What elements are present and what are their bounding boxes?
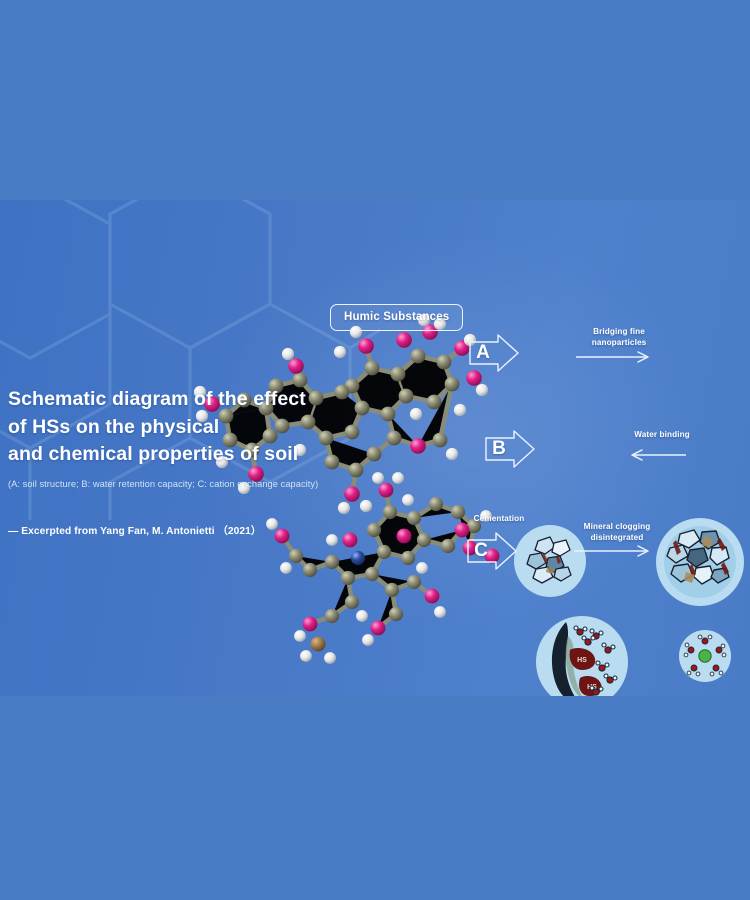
bottom-padding-band: [0, 696, 750, 900]
flow-label-water-binding: Water binding: [626, 430, 698, 441]
headline-line-2: of HSs on the physical: [8, 414, 338, 442]
flow-label-mineral-clogging: Mineral clogging disintegrated: [574, 522, 660, 543]
flow-label-bridging-line-1: Bridging fine: [578, 327, 660, 338]
bridged-aggregate-circle: [656, 518, 744, 606]
step-c-letter: C: [466, 530, 496, 572]
step-a-arrow[interactable]: A: [468, 332, 520, 374]
attribution-source: — Excerpted from Yang Fan, M. Antonietti…: [8, 522, 338, 537]
content-slide: Schematic diagram of the effect of HSs o…: [0, 200, 750, 696]
slide-stage: Schematic diagram of the effect of HSs o…: [0, 0, 750, 900]
connector-arrow-right-c: [574, 544, 656, 558]
flow-label-cementation: Cementation: [466, 514, 532, 525]
top-padding-band: [0, 0, 750, 200]
subtitle-caption: (A: soil structure; B: water retention c…: [8, 478, 338, 490]
flow-label-mineral-clogging-line-2: disintegrated: [574, 533, 660, 544]
flow-label-bridging: Bridging fine nanoparticles: [578, 327, 660, 348]
svg-text:HS: HS: [577, 657, 587, 664]
text-block: Schematic diagram of the effect of HSs o…: [8, 386, 338, 537]
step-b-arrow[interactable]: B: [484, 428, 536, 470]
flow-label-mineral-clogging-line-1: Mineral clogging: [574, 522, 660, 533]
flow-label-bridging-line-2: nanoparticles: [578, 338, 660, 349]
step-b-letter: B: [484, 428, 514, 470]
headline-line-3: and chemical properties of soil: [8, 441, 338, 469]
headline-line-1: Schematic diagram of the effect: [8, 386, 338, 414]
connector-arrow-left-b: [628, 448, 686, 462]
connector-arrow-right-a: [576, 350, 656, 364]
step-c-arrow[interactable]: C: [466, 530, 518, 572]
step-a-letter: A: [468, 332, 498, 374]
hydrated-cation-circle: [679, 630, 731, 682]
humic-substances-badge[interactable]: Humic Substances: [330, 304, 463, 331]
page-title: Schematic diagram of the effect of HSs o…: [8, 386, 338, 469]
